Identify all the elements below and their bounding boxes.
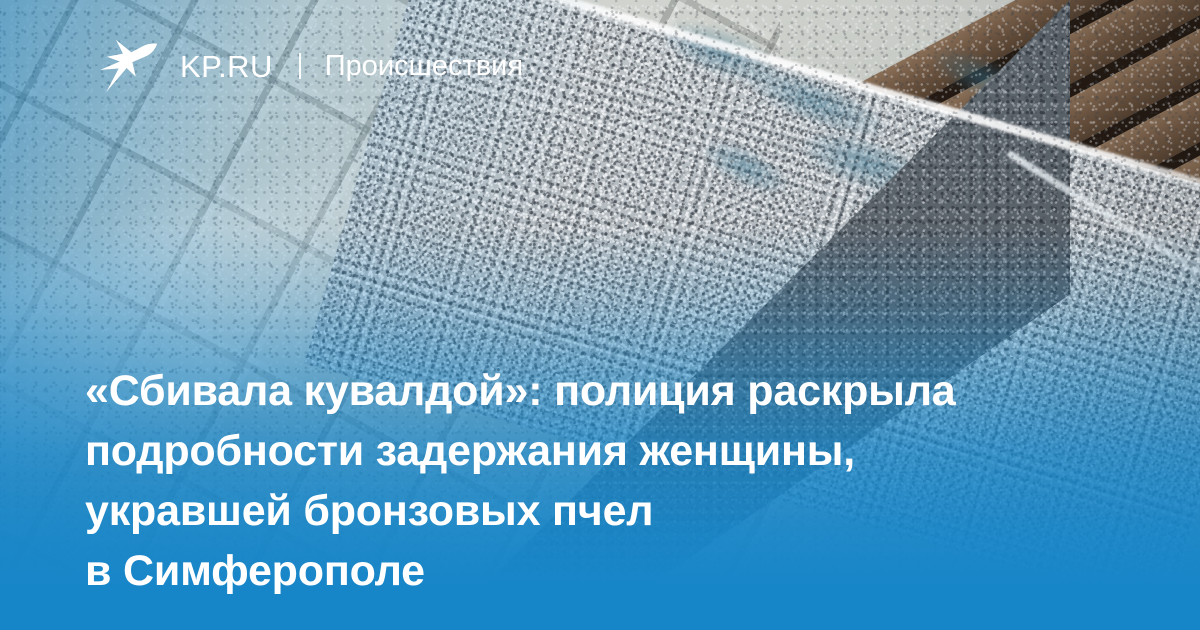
- brand-wordmark[interactable]: KP.RU: [180, 51, 273, 82]
- header-divider: [299, 53, 301, 79]
- headline-line-3: укравшей бронзовых пчел: [85, 481, 1125, 541]
- social-share-card: KP.RU Происшествия «Сбивала кувалдой»: п…: [0, 0, 1200, 630]
- headline-line-4: в Симферополе: [85, 541, 1125, 601]
- headline-line-1: «Сбивала кувалдой»: полиция раскрыла: [85, 361, 1125, 421]
- headline-line-2: подробности задержания женщины,: [85, 421, 1125, 481]
- headline: «Сбивала кувалдой»: полиция раскрыла под…: [85, 361, 1125, 601]
- swallow-bird-logo-icon[interactable]: [96, 38, 158, 94]
- brand-header: KP.RU Происшествия: [96, 38, 523, 94]
- rubric-label[interactable]: Происшествия: [325, 52, 523, 81]
